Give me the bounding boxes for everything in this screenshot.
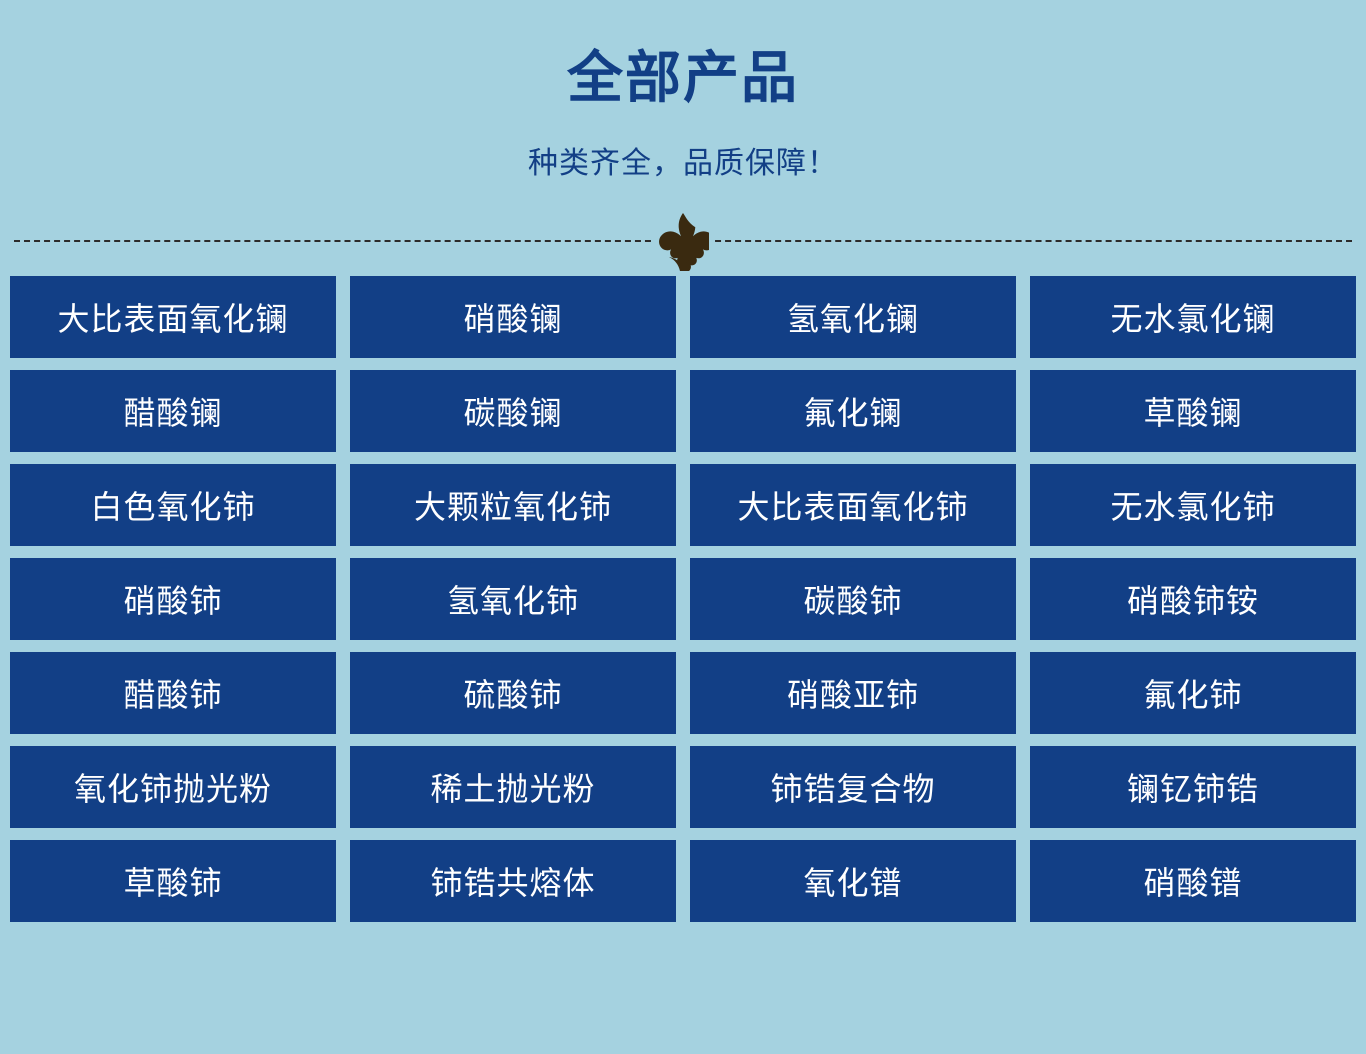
product-tile[interactable]: 氟化铈	[1030, 652, 1356, 734]
divider	[0, 204, 1366, 276]
product-tile[interactable]: 大比表面氧化镧	[10, 276, 336, 358]
product-tile[interactable]: 氧化铈抛光粉	[10, 746, 336, 828]
product-tile[interactable]: 无水氯化铈	[1030, 464, 1356, 546]
product-tile[interactable]: 白色氧化铈	[10, 464, 336, 546]
product-tile[interactable]: 大颗粒氧化铈	[350, 464, 676, 546]
product-tile[interactable]: 稀土抛光粉	[350, 746, 676, 828]
page-subtitle: 种类齐全，品质保障！	[0, 110, 1366, 182]
product-tile[interactable]: 碳酸镧	[350, 370, 676, 452]
page-title: 全部产品	[0, 46, 1366, 110]
product-tile[interactable]: 镧钇铈锆	[1030, 746, 1356, 828]
product-tile[interactable]: 铈锆复合物	[690, 746, 1016, 828]
product-tile[interactable]: 草酸镧	[1030, 370, 1356, 452]
product-tile[interactable]: 大比表面氧化铈	[690, 464, 1016, 546]
product-tile[interactable]: 硝酸镧	[350, 276, 676, 358]
product-tile[interactable]: 氧化镨	[690, 840, 1016, 922]
product-tile[interactable]: 醋酸镧	[10, 370, 336, 452]
product-tile[interactable]: 铈锆共熔体	[350, 840, 676, 922]
product-tile[interactable]: 氢氧化镧	[690, 276, 1016, 358]
product-tile[interactable]: 草酸铈	[10, 840, 336, 922]
product-tile[interactable]: 硫酸铈	[350, 652, 676, 734]
product-tile[interactable]: 硝酸亚铈	[690, 652, 1016, 734]
all-products-page: 全部产品 种类齐全，品质保障！ 大比表面氧化镧 硝酸镧 氢氧化镧 无水氯化镧 醋…	[0, 0, 1366, 1054]
product-tile[interactable]: 无水氯化镧	[1030, 276, 1356, 358]
product-tile[interactable]: 硝酸铈	[10, 558, 336, 640]
product-tile[interactable]: 碳酸铈	[690, 558, 1016, 640]
product-grid: 大比表面氧化镧 硝酸镧 氢氧化镧 无水氯化镧 醋酸镧 碳酸镧 氟化镧 草酸镧 白…	[0, 276, 1366, 922]
product-tile[interactable]: 醋酸铈	[10, 652, 336, 734]
product-tile[interactable]: 氟化镧	[690, 370, 1016, 452]
fleur-de-lis-icon	[651, 210, 715, 274]
product-tile[interactable]: 硝酸镨	[1030, 840, 1356, 922]
page-header: 全部产品 种类齐全，品质保障！	[0, 0, 1366, 182]
product-tile[interactable]: 氢氧化铈	[350, 558, 676, 640]
product-tile[interactable]: 硝酸铈铵	[1030, 558, 1356, 640]
